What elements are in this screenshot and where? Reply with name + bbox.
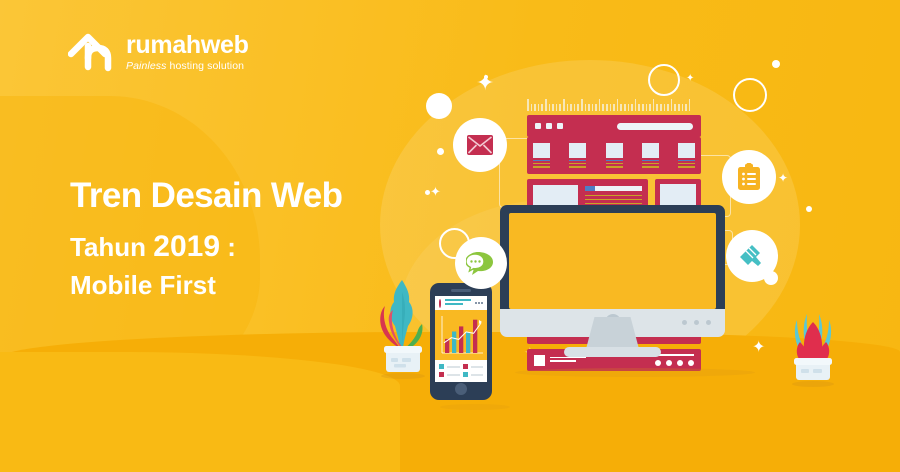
mockup-navbar	[527, 115, 701, 137]
mockup-footer-lines	[550, 357, 586, 364]
ruler-tick	[592, 104, 594, 111]
ruler-tick	[617, 99, 619, 111]
headline-year: 2019	[153, 230, 220, 263]
mockup-thumbnail	[678, 143, 695, 168]
ruler-tick	[610, 104, 612, 111]
ruler-tick	[577, 104, 579, 111]
ruler-decor	[527, 97, 701, 111]
mockup-hero-title-bar	[585, 186, 642, 191]
mockup-footer-pagination[interactable]	[655, 360, 694, 366]
ruler-tick	[671, 99, 673, 111]
ruler-tick	[567, 104, 569, 111]
decor-sparkle: ✦	[778, 172, 788, 184]
ruler-tick	[552, 104, 554, 111]
ruler-tick	[656, 104, 658, 111]
ruler-tick	[581, 99, 583, 111]
background-ground-left	[0, 352, 400, 472]
ruler-tick	[631, 104, 633, 111]
envelope-icon-bubble[interactable]	[453, 118, 507, 172]
brand-tagline: Painless hosting solution	[126, 61, 249, 72]
chat-bubble-icon	[466, 251, 496, 275]
headline-line-2-prefix: Tahun	[70, 232, 153, 262]
ruler-tick	[570, 104, 572, 111]
monitor-screen	[509, 213, 716, 309]
brand-name: rumahweb	[126, 33, 249, 58]
chat-icon-bubble[interactable]	[455, 237, 507, 289]
ruler-tick	[674, 104, 676, 111]
headline-line-2-suffix: :	[220, 232, 236, 262]
mockup-nav-dots	[535, 123, 563, 129]
mockup-footer-logo	[534, 355, 545, 366]
mockup-thumbnail-image	[606, 143, 623, 158]
decor-sparkle: ✦	[430, 185, 441, 198]
ruler-tick	[556, 104, 558, 111]
ruler-tick	[685, 104, 687, 111]
phone-header	[435, 296, 487, 310]
monitor-neck	[586, 317, 639, 349]
ruler-tick	[620, 104, 622, 111]
headline-block: Tren Desain Web Tahun 2019 : Mobile Firs…	[70, 176, 342, 301]
ruler-tick	[599, 99, 601, 111]
ruler-tick	[682, 104, 684, 111]
mockup-thumbnail	[569, 143, 586, 168]
ruler-tick	[646, 104, 648, 111]
decor-dot	[437, 148, 444, 155]
mockup-thumbnail-image	[569, 143, 586, 158]
decor-sparkle: ✦	[686, 74, 694, 84]
ruler-tick	[613, 104, 615, 111]
brand-tagline-rest: hosting solution	[167, 60, 245, 72]
potted-plant-right	[783, 308, 843, 390]
monitor-base	[564, 347, 661, 357]
list-item	[439, 372, 483, 377]
monitor-shadow	[515, 368, 755, 377]
decor-sparkle: ✦	[476, 72, 494, 94]
phone-speaker	[451, 289, 471, 292]
headline-line-3: Mobile First	[70, 270, 342, 301]
ruler-tick	[624, 104, 626, 111]
mockup-text-line	[585, 195, 642, 197]
ruler-tick	[642, 104, 644, 111]
ruler-tick	[678, 104, 680, 111]
ruler-tick	[667, 104, 669, 111]
headline-line-2: Tahun 2019 :	[70, 230, 342, 264]
decor-dot	[772, 60, 780, 68]
headline-line-1: Tren Desain Web	[70, 176, 342, 216]
clipboard-icon-bubble[interactable]	[722, 150, 776, 204]
mockup-thumbnail-strip	[527, 137, 701, 174]
mockup-footer-right	[655, 354, 694, 366]
ruler-tick	[638, 104, 640, 111]
ruler-tick	[549, 104, 551, 111]
rumahweb-chevron-mark-icon	[68, 30, 116, 74]
mobile-phone-mockup	[430, 283, 492, 400]
mockup-thumbnail	[606, 143, 623, 168]
clipboard-icon	[737, 163, 761, 191]
phone-shadow	[440, 404, 510, 410]
mockup-thumbnail-image	[533, 143, 550, 158]
ruler-tick	[660, 104, 662, 111]
decor-dot	[426, 93, 452, 119]
monitor-indicator-dots	[682, 320, 711, 325]
envelope-icon	[467, 135, 493, 155]
ruler-tick	[585, 104, 587, 111]
ruler-tick	[595, 104, 597, 111]
ruler-tick	[574, 104, 576, 111]
plug-icon-bubble[interactable]	[726, 230, 778, 282]
brand-logo[interactable]: rumahweb Painless hosting solution	[68, 30, 249, 74]
ruler-tick	[649, 104, 651, 111]
ruler-tick	[563, 99, 565, 111]
ruler-tick	[689, 99, 691, 111]
phone-menu-icon[interactable]	[475, 302, 483, 304]
mockup-thumbnail	[533, 143, 550, 168]
potted-plant-left	[372, 272, 434, 382]
ruler-tick	[653, 99, 655, 111]
decor-sparkle: ✦	[752, 340, 765, 356]
decor-ring	[733, 78, 767, 112]
ruler-tick	[531, 104, 533, 111]
mockup-thumbnail	[642, 143, 659, 168]
ruler-tick	[664, 104, 666, 111]
ruler-tick	[545, 99, 547, 111]
phone-list	[435, 360, 487, 382]
ruler-tick	[559, 104, 561, 111]
ruler-tick	[602, 104, 604, 111]
decor-ring	[648, 64, 680, 96]
ruler-tick	[541, 104, 543, 111]
phone-home-button[interactable]	[455, 383, 467, 395]
monitor-frame	[500, 205, 725, 317]
mockup-search-pill	[617, 123, 693, 130]
mockup-thumbnail-image	[642, 143, 659, 158]
ruler-tick	[635, 99, 637, 111]
ruler-tick	[628, 104, 630, 111]
ruler-tick	[606, 104, 608, 111]
mockup-thumbnail-image	[678, 143, 695, 158]
brand-tagline-italic: Painless	[126, 60, 167, 72]
banner-root: ✦ ✦ ✦ ✦ ✦ ✦ rumahweb Painless hosting so…	[0, 0, 900, 472]
list-item	[439, 364, 483, 369]
decor-dot	[806, 206, 812, 212]
phone-screen	[435, 296, 487, 382]
phone-header-lines	[445, 299, 471, 307]
ruler-tick	[588, 104, 590, 111]
phone-avatar	[439, 299, 441, 308]
mockup-text-line	[585, 199, 642, 201]
plug-icon	[738, 243, 766, 269]
ruler-tick	[527, 99, 529, 111]
desktop-monitor	[500, 205, 725, 330]
phone-chart	[435, 310, 487, 360]
ruler-tick	[538, 104, 540, 111]
ruler-tick	[534, 104, 536, 111]
